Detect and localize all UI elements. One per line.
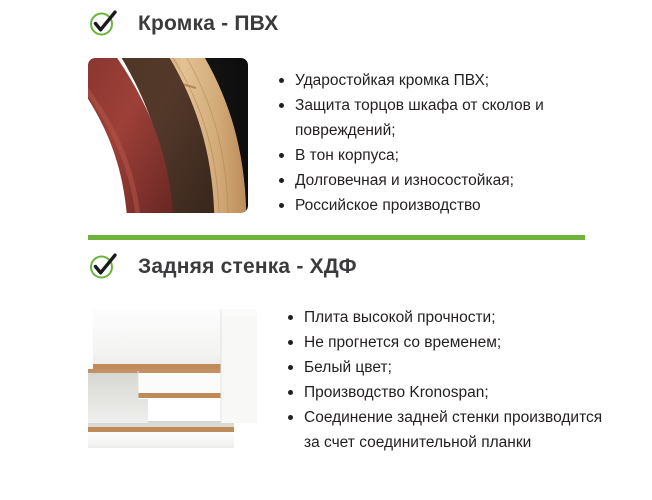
section-back-panel: Задняя стенка - ХДФ xyxy=(0,243,652,455)
list-item: Ударостойкая кромка ПВХ; xyxy=(276,68,595,93)
section-content-back-panel: Плита высокой прочности; Не прогнется со… xyxy=(0,301,652,455)
section-title: Кромка - ПВХ xyxy=(138,13,278,34)
hdf-panel-illustration xyxy=(88,301,263,453)
check-circle-icon xyxy=(88,251,118,281)
photo-inner xyxy=(88,58,248,213)
product-photo-edge-banding xyxy=(88,58,248,213)
list-item: Плита высокой прочности; xyxy=(285,305,604,330)
section-edge-banding: Кромка - ПВХ xyxy=(0,0,652,218)
section-title: Задняя стенка - ХДФ xyxy=(138,256,357,277)
list-item: Производство Kronospan; xyxy=(285,380,604,405)
list-item: Не прогнется со временем; xyxy=(285,330,604,355)
product-photo-back-panel xyxy=(88,301,263,453)
section-content-edge-banding: Ударостойкая кромка ПВХ; Защита торцов ш… xyxy=(0,58,652,218)
check-circle-icon xyxy=(88,8,118,38)
list-item: В тон корпуса; xyxy=(276,143,595,168)
list-item: Защита торцов шкафа от сколов и поврежде… xyxy=(276,93,595,143)
list-item: Белый цвет; xyxy=(285,355,604,380)
product-features-page: Кромка - ПВХ xyxy=(0,0,652,500)
list-item: Соединение задней стенки производится за… xyxy=(285,405,604,455)
section-header-edge-banding: Кромка - ПВХ xyxy=(0,0,652,46)
feature-list-edge-banding: Ударостойкая кромка ПВХ; Защита торцов ш… xyxy=(276,68,652,218)
list-item: Долговечная и износостойкая; xyxy=(276,168,595,193)
section-header-back-panel: Задняя стенка - ХДФ xyxy=(0,243,652,289)
edge-banding-illustration xyxy=(88,58,248,213)
section-divider xyxy=(88,235,585,240)
list-item: Российское производство xyxy=(276,193,595,218)
feature-list-back-panel: Плита высокой прочности; Не прогнется со… xyxy=(285,305,652,455)
